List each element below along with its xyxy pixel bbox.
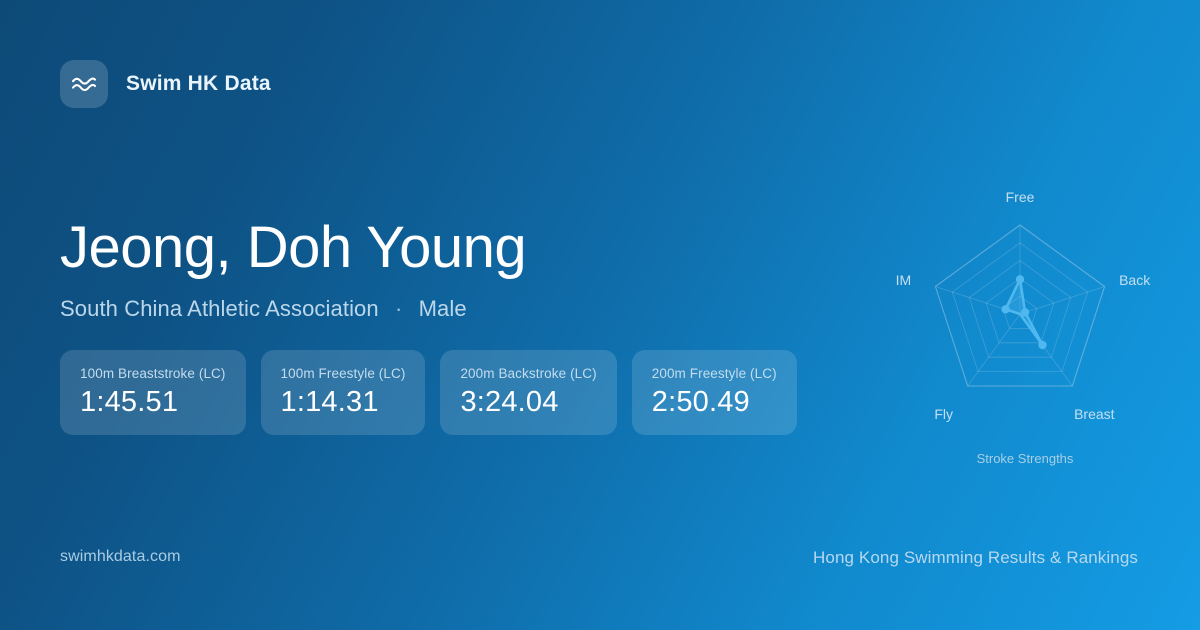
radar-axis-label-back: Back [1119, 272, 1150, 288]
event-card[interactable]: 200m Freestyle (LC) 2:50.49 [632, 350, 797, 435]
event-name: 200m Backstroke (LC) [460, 366, 596, 381]
event-cards: 100m Breaststroke (LC) 1:45.51 100m Free… [60, 350, 797, 435]
event-name: 100m Breaststroke (LC) [80, 366, 226, 381]
hero: Jeong, Doh Young South China Athletic As… [60, 218, 526, 322]
footer-site-url[interactable]: swimhkdata.com [60, 548, 181, 566]
radar-axis-label-breast: Breast [1074, 406, 1114, 422]
waves-icon [60, 60, 108, 108]
athlete-gender: Male [419, 296, 467, 321]
event-name: 100m Freestyle (LC) [281, 366, 406, 381]
event-card[interactable]: 200m Backstroke (LC) 3:24.04 [440, 350, 616, 435]
brand-name: Swim HK Data [126, 72, 271, 96]
event-name: 200m Freestyle (LC) [652, 366, 777, 381]
page-title: Jeong, Doh Young [60, 218, 526, 278]
athlete-meta: South China Athletic Association · Male [60, 296, 526, 322]
brand[interactable]: Swim HK Data [60, 60, 271, 108]
event-time: 1:45.51 [80, 386, 226, 419]
event-time: 1:14.31 [281, 386, 406, 419]
stroke-strengths-radar-chart: Stroke Strengths FreeBackBreastFlyIM [880, 170, 1170, 470]
event-time: 3:24.04 [460, 386, 596, 419]
meta-separator: · [385, 296, 412, 321]
footer-tagline: Hong Kong Swimming Results & Rankings [813, 548, 1138, 568]
event-card[interactable]: 100m Breaststroke (LC) 1:45.51 [60, 350, 246, 435]
radar-axis-label-free: Free [1006, 189, 1035, 205]
radar-axis-label-im: IM [896, 272, 912, 288]
event-card[interactable]: 100m Freestyle (LC) 1:14.31 [261, 350, 426, 435]
radar-axis-label-fly: Fly [934, 406, 953, 422]
radar-svg [880, 170, 1170, 470]
athlete-club: South China Athletic Association [60, 296, 379, 321]
event-time: 2:50.49 [652, 386, 777, 419]
radar-caption: Stroke Strengths [977, 451, 1074, 466]
